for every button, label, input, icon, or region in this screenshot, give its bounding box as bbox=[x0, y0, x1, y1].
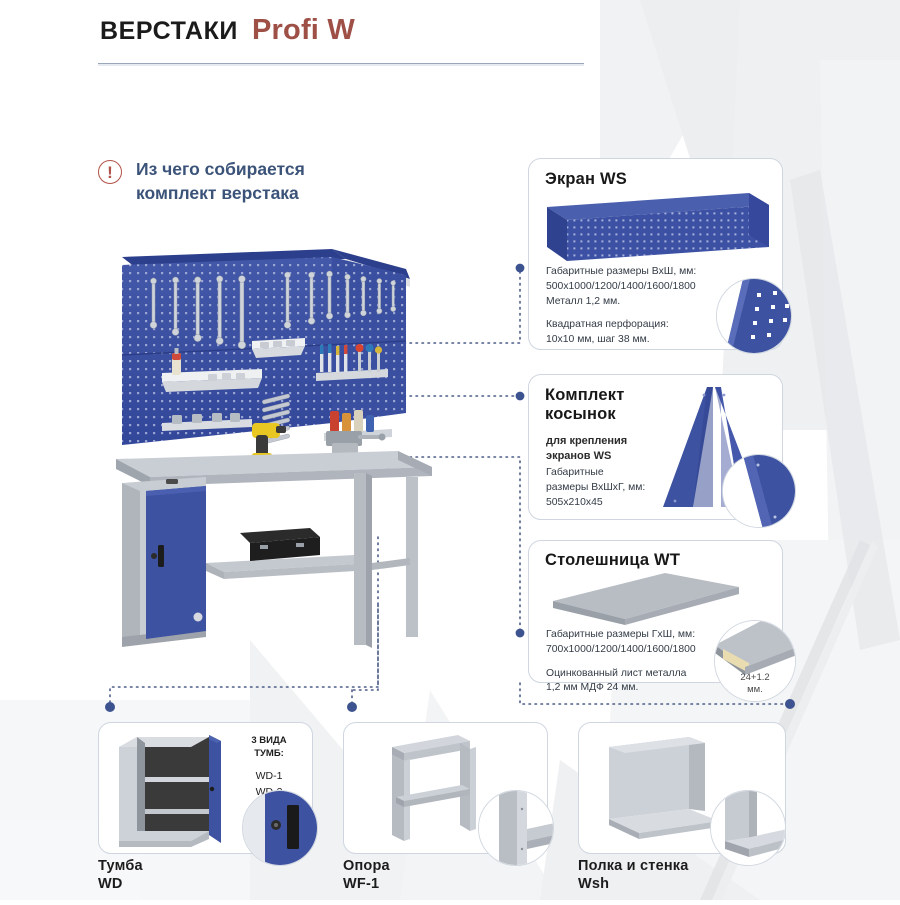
card-gussets-title: Комплект косынок bbox=[545, 386, 665, 425]
gussets-title-line-1: Комплект bbox=[545, 386, 665, 405]
gussets-zoom-bubble bbox=[722, 454, 796, 528]
shelf-caption-2: Wsh bbox=[578, 875, 689, 893]
gussets-spec-3: 505х210х45 bbox=[546, 496, 671, 511]
cabinet-wd-illustration bbox=[113, 731, 225, 849]
card-worktop-wt-title: Столешница WT bbox=[545, 551, 680, 570]
shelf-wsh-zoom-bubble bbox=[710, 790, 786, 866]
screen-ws-spec-5: 10х10 мм, шаг 38 мм. bbox=[546, 333, 746, 348]
cabinet-types-heading-1: 3 ВИДА bbox=[231, 735, 307, 748]
subtitle-block: ! Из чего собирается комплект верстака bbox=[98, 158, 305, 205]
support-caption-2: WF-1 bbox=[343, 875, 390, 893]
gussets-sub-1: для крепления bbox=[546, 434, 664, 449]
card-cabinet-wd-caption: Тумба WD bbox=[98, 857, 143, 893]
cabinet-types-heading-2: ТУМБ: bbox=[231, 748, 307, 761]
support-wf-zoom-bubble bbox=[478, 790, 554, 866]
subtitle-text: Из чего собирается комплект верстака bbox=[136, 158, 305, 205]
gussets-sub-2: экранов WS bbox=[546, 449, 664, 464]
exclamation-circle-icon: ! bbox=[98, 160, 122, 184]
workbench-svg bbox=[110, 245, 440, 665]
card-screen-ws-title: Экран WS bbox=[545, 170, 627, 189]
page-title-main: ВЕРСТАКИ bbox=[100, 17, 238, 46]
screen-ws-zoom-bubble bbox=[716, 278, 792, 354]
worktop-zoom-caption-2: мм. bbox=[714, 684, 796, 696]
gussets-spec-1: Габаритные bbox=[546, 466, 671, 481]
cabinet-wd-zoom-svg bbox=[243, 791, 318, 866]
support-wf-zoom-svg bbox=[479, 791, 554, 866]
gussets-title-line-2: косынок bbox=[545, 405, 665, 424]
cabinet-wd-zoom-bubble bbox=[242, 790, 318, 866]
gussets-zoom-svg bbox=[723, 455, 796, 528]
shelf-caption-1: Полка и стенка bbox=[578, 857, 689, 875]
gussets-spec-2: размеры ВхШхГ, мм: bbox=[546, 481, 671, 496]
screen-ws-spec-1: Габаритные размеры ВхШ, мм: bbox=[546, 265, 746, 280]
cabinet-caption-2: WD bbox=[98, 875, 143, 893]
card-shelf-wsh-caption: Полка и стенка Wsh bbox=[578, 857, 689, 893]
cabinet-type-1: WD-1 bbox=[231, 768, 307, 784]
workbench-illustration bbox=[110, 245, 440, 665]
worktop-zoom-caption-1: 24+1.2 bbox=[714, 672, 796, 684]
screen-ws-spec-2: 500x1000/1200/1400/1600/1800 bbox=[546, 280, 746, 295]
page-title: ВЕРСТАКИ Profi W bbox=[100, 14, 355, 47]
subtitle-line-1: Из чего собирается bbox=[136, 158, 305, 182]
screen-ws-zoom-svg bbox=[717, 279, 792, 354]
page-header: ВЕРСТАКИ Profi W bbox=[100, 14, 355, 47]
cabinet-caption-1: Тумба bbox=[98, 857, 143, 875]
support-wf-illustration bbox=[372, 731, 490, 849]
support-caption-1: Опора bbox=[343, 857, 390, 875]
screen-ws-illustration bbox=[543, 189, 775, 267]
card-support-wf-caption: Опора WF-1 bbox=[343, 857, 390, 893]
shelf-wsh-zoom-svg bbox=[711, 791, 786, 866]
worktop-wt-illustration bbox=[547, 569, 747, 627]
page-title-accent: Profi W bbox=[252, 14, 355, 47]
subtitle-line-2: комплект верстака bbox=[136, 182, 305, 206]
worktop-wt-zoom-caption: 24+1.2 мм. bbox=[714, 672, 796, 696]
header-divider bbox=[98, 63, 584, 66]
